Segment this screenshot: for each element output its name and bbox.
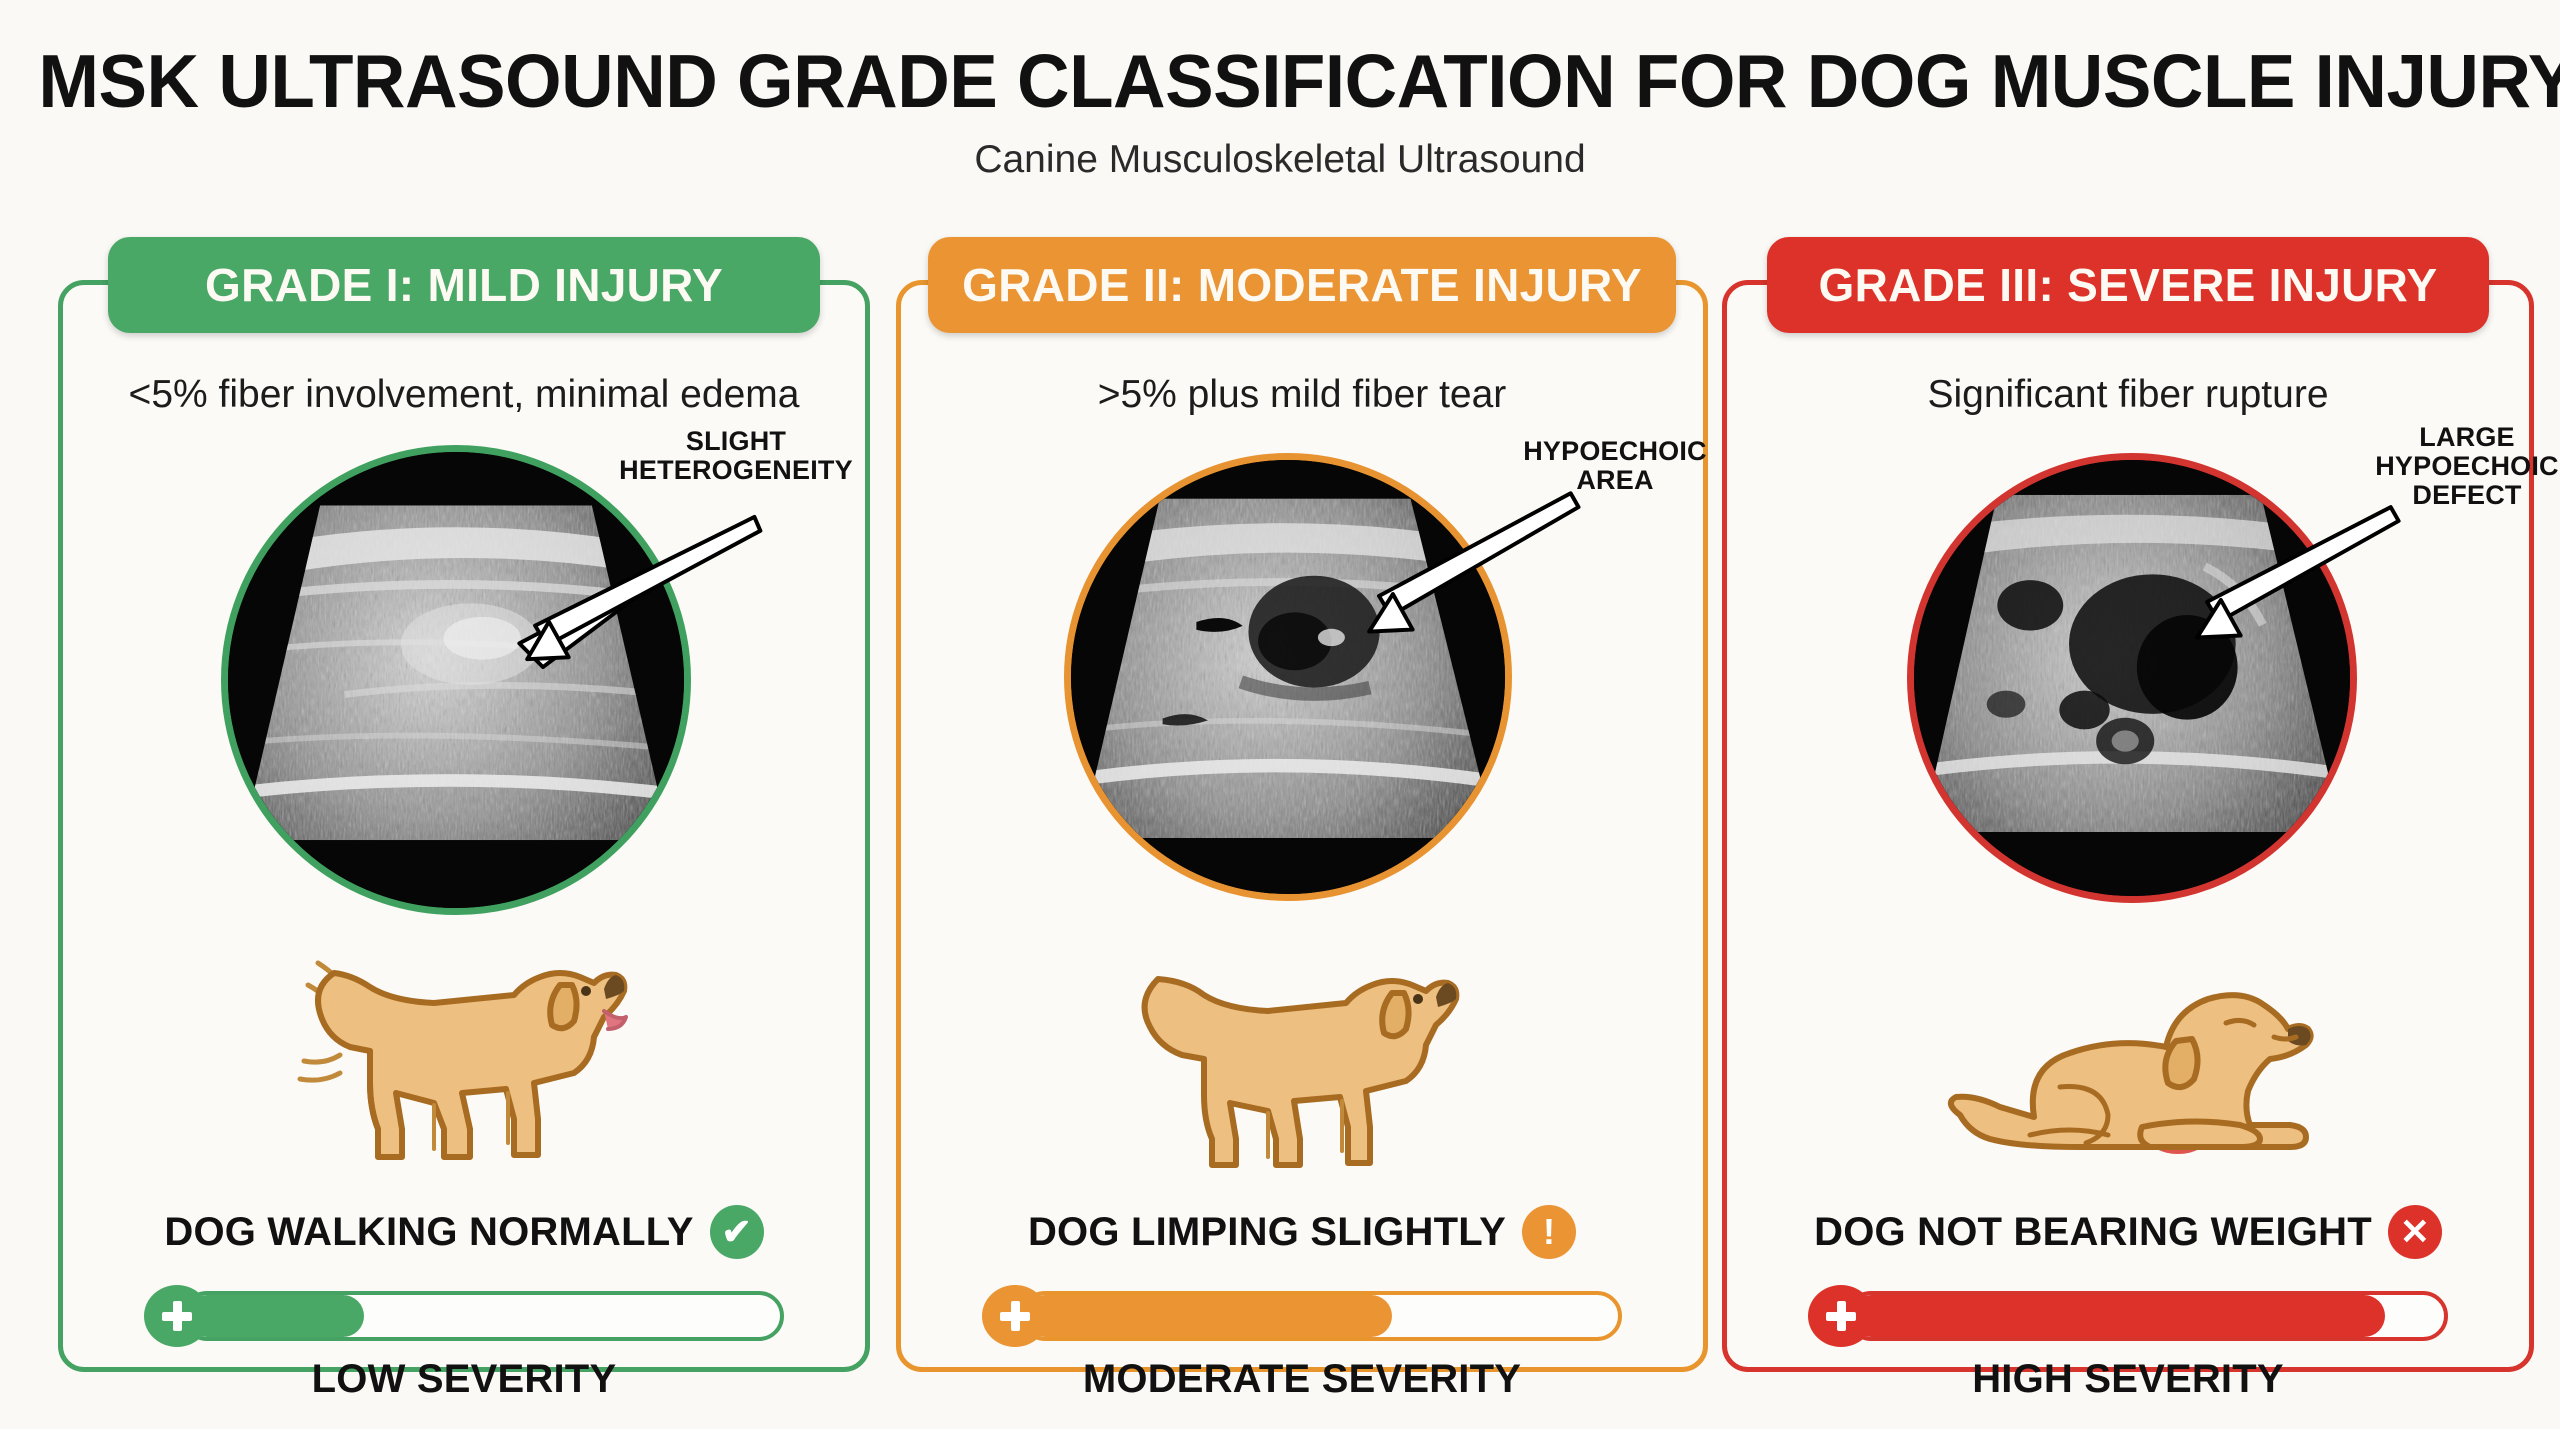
grade-badge-3: GRADE III: SEVERE INJURY [1767, 237, 2489, 333]
severity-track-2 [1020, 1291, 1622, 1341]
annotation-label-2: HYPOECHOIC AREA [1495, 437, 1735, 495]
severity-label-1: LOW SEVERITY [63, 1357, 865, 1402]
severity-track-3 [1846, 1291, 2448, 1341]
x-circle-icon-3: ✕ [2388, 1205, 2442, 1259]
grade-card-2[interactable]: GRADE II: MODERATE INJURY >5% plus mild … [896, 280, 1708, 1372]
infographic-page: MSK ULTRASOUND GRADE CLASSIFICATION FOR … [0, 0, 2560, 1429]
status-row-1: DOG WALKING NORMALLY ✔ [63, 1205, 865, 1259]
medical-cross-icon-2 [982, 1285, 1048, 1347]
page-subtitle: Canine Musculoskeletal Ultrasound [0, 138, 2560, 182]
severity-track-1 [182, 1291, 784, 1341]
annotation-label-1: SLIGHT HETEROGENEITY [601, 427, 871, 485]
status-row-2: DOG LIMPING SLIGHTLY ! [901, 1205, 1703, 1259]
severity-fill-3 [1850, 1295, 2385, 1337]
page-title: MSK ULTRASOUND GRADE CLASSIFICATION FOR … [38, 38, 2521, 124]
dog-limping-icon-2 [901, 945, 1703, 1181]
grade-badge-2: GRADE II: MODERATE INJURY [928, 237, 1676, 333]
annotation-label-3: LARGE HYPOECHOIC DEFECT [2359, 423, 2560, 510]
dog-walking-icon-1 [63, 933, 865, 1183]
ultrasound-scan-image-1[interactable] [221, 445, 691, 915]
ultrasound-scan-image-2[interactable] [1064, 453, 1512, 901]
severity-label-2: MODERATE SEVERITY [901, 1357, 1703, 1402]
severity-bar-3[interactable] [1808, 1283, 2448, 1349]
severity-fill-1 [186, 1295, 364, 1337]
status-row-3: DOG NOT BEARING WEIGHT ✕ [1727, 1205, 2529, 1259]
check-circle-icon-1: ✔ [710, 1205, 764, 1259]
severity-bar-1[interactable] [144, 1283, 784, 1349]
severity-label-3: HIGH SEVERITY [1727, 1357, 2529, 1402]
dog-lying-down-icon-3 [1727, 975, 2529, 1175]
scan-region-3: LARGE HYPOECHOIC DEFECT [1727, 445, 2529, 905]
grade-description-3: Significant fiber rupture [1727, 373, 2529, 417]
severity-bar-2[interactable] [982, 1283, 1622, 1349]
grade-description-2: >5% plus mild fiber tear [901, 373, 1703, 417]
severity-fill-2 [1024, 1295, 1392, 1337]
grade-description-1: <5% fiber involvement, minimal edema [63, 373, 865, 417]
exclamation-circle-icon-2: ! [1522, 1205, 1576, 1259]
grade-badge-1: GRADE I: MILD INJURY [108, 237, 820, 333]
grade-card-3[interactable]: GRADE III: SEVERE INJURY Significant fib… [1722, 280, 2534, 1372]
scan-region-2: HYPOECHOIC AREA [901, 445, 1703, 905]
status-label-1: DOG WALKING NORMALLY [164, 1210, 693, 1255]
status-label-2: DOG LIMPING SLIGHTLY [1028, 1210, 1506, 1255]
medical-cross-icon-1 [144, 1285, 210, 1347]
status-label-3: DOG NOT BEARING WEIGHT [1814, 1210, 2372, 1255]
grade-card-1[interactable]: GRADE I: MILD INJURY <5% fiber involveme… [58, 280, 870, 1372]
ultrasound-scan-image-3[interactable] [1907, 453, 2357, 903]
medical-cross-icon-3 [1808, 1285, 1874, 1347]
scan-region-1: SLIGHT HETEROGENEITY [63, 445, 865, 905]
